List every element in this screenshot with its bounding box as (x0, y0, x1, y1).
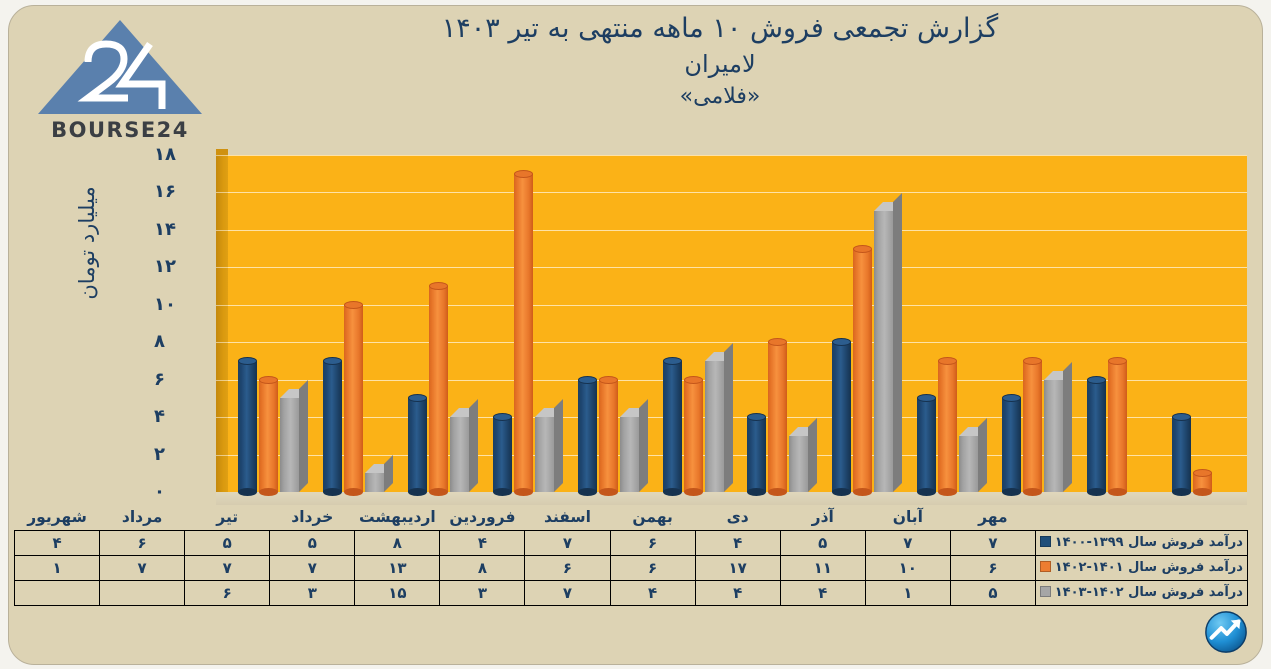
legend-color-swatch (1040, 586, 1051, 597)
month-header-cell: شهریور (15, 505, 100, 530)
bar-top-cap (1108, 357, 1127, 365)
table-row: درآمد فروش سال ۱۴۰۲-۱۴۰۳۵۱۴۴۴۷۳۱۵۳۶ (15, 580, 1248, 605)
bar-cluster (917, 155, 978, 492)
legend-label-text: درآمد فروش سال ۱۴۰۲-۱۴۰۳ (1055, 585, 1243, 600)
bar-navy (1002, 398, 1021, 492)
bar-body (365, 473, 384, 492)
table-cell-value: ۴ (15, 530, 100, 555)
y-axis-tick-labels: ۰۲۴۶۸۱۰۱۲۱۴۱۶۱۸ (150, 144, 220, 504)
bar-cluster (832, 155, 893, 492)
month-header-cell: مهر (950, 505, 1035, 530)
bar-gray (959, 436, 978, 492)
table-corner-cell (1035, 505, 1247, 530)
bar-cluster (1087, 155, 1148, 492)
bar-bottom-cap (514, 488, 533, 496)
bar-side-face (554, 399, 563, 492)
bar-top-cap (684, 376, 703, 384)
bar-side-face (639, 399, 648, 492)
table-cell-value: ۱۷ (695, 555, 780, 580)
table-cell-value: ۱۱ (780, 555, 865, 580)
bar-gray (620, 417, 639, 492)
bar-gray (280, 398, 299, 492)
y-tick-label: ۱۸ (154, 146, 220, 164)
table-cell-value: ۶ (950, 555, 1035, 580)
y-tick-label: ۱۰ (154, 296, 220, 314)
logo-wordmark: BOURSE24 (30, 118, 210, 142)
logo-triangle-icon (30, 14, 210, 120)
bar-body (832, 342, 851, 492)
table-cell-value: ۱۰ (865, 555, 950, 580)
table-cell-empty (15, 580, 100, 605)
bar-navy (493, 417, 512, 492)
bar-orange (344, 305, 363, 492)
table-cell-value: ۷ (950, 530, 1035, 555)
axis-tick-mark (216, 305, 228, 306)
bar-top-cap (429, 282, 448, 290)
axis-tick-mark (216, 230, 228, 231)
table-cell-value: ۵ (780, 530, 865, 555)
table-cell-value: ۸ (355, 530, 440, 555)
bar-side-face (808, 418, 817, 492)
bar-top-cap (493, 413, 512, 421)
bar-body (705, 361, 724, 492)
plot-left-wall (216, 155, 228, 492)
table-cell-value: ۱ (865, 580, 950, 605)
bar-orange (684, 380, 703, 492)
bar-body (663, 361, 682, 492)
month-header-cell: آبان (865, 505, 950, 530)
table-cell-value: ۴ (440, 530, 525, 555)
bar-side-face (384, 455, 393, 492)
chart-title: گزارش تجمعی فروش ۱۰ ماهه منتهی به تیر ۱۴… (210, 10, 1230, 47)
y-tick-label: ۲ (154, 446, 220, 464)
table-cell-value: ۴ (610, 580, 695, 605)
bar-body (938, 361, 957, 492)
legend-row-label: درآمد فروش سال ۱۴۰۱-۱۴۰۲ (1035, 555, 1247, 580)
bar-navy (238, 361, 257, 492)
bar-gray (874, 211, 893, 492)
bourse24-logo: BOURSE24 (30, 14, 210, 140)
month-header-cell: آذر (780, 505, 865, 530)
bar-top-cap (599, 376, 618, 384)
bar-bottom-cap (429, 488, 448, 496)
bar-gray (705, 361, 724, 492)
bar-top-cap (578, 376, 597, 384)
bar-side-face (724, 343, 733, 492)
bar-bottom-cap (493, 488, 512, 496)
bar-body (1023, 361, 1042, 492)
screenshot-root: BOURSE24 گزارش تجمعی فروش ۱۰ ماهه منتهی … (0, 0, 1271, 669)
table-cell-value: ۶ (525, 555, 610, 580)
chart-title-block: گزارش تجمعی فروش ۱۰ ماهه منتهی به تیر ۱۴… (210, 10, 1230, 113)
bar-orange (1108, 361, 1127, 492)
bar-side-face (978, 418, 987, 492)
bar-orange (514, 174, 533, 492)
table-header-row: مهرآبانآذردیبهمناسفندفروردیناردیبهشتخردا… (15, 505, 1248, 530)
bar-bottom-cap (408, 488, 427, 496)
bar-body (1087, 380, 1106, 492)
bar-body (493, 417, 512, 492)
bar-cluster (1002, 155, 1063, 492)
y-tick-label: ۱۲ (154, 258, 220, 276)
table-cell-value: ۴ (695, 580, 780, 605)
bar-body (620, 417, 639, 492)
table-cell-value: ۸ (440, 555, 525, 580)
bar-bottom-cap (1172, 488, 1191, 496)
bar-body (789, 436, 808, 492)
legend-row-label: درآمد فروش سال ۱۳۹۹-۱۴۰۰ (1035, 530, 1247, 555)
bar-body (917, 398, 936, 492)
bar-gray (535, 417, 554, 492)
month-header-cell: خرداد (270, 505, 355, 530)
table-cell-value: ۷ (100, 555, 185, 580)
legend-row-label: درآمد فروش سال ۱۴۰۲-۱۴۰۳ (1035, 580, 1247, 605)
bar-bottom-cap (684, 488, 703, 496)
bar-gray (789, 436, 808, 492)
table-cell-value: ۵ (950, 580, 1035, 605)
table-row: درآمد فروش سال ۱۳۹۹-۱۴۰۰۷۷۵۴۶۷۴۸۵۵۶۴ (15, 530, 1248, 555)
axis-tick-mark (216, 417, 228, 418)
bar-orange (938, 361, 957, 492)
bar-top-cap (1087, 376, 1106, 384)
bar-top-cap (238, 357, 257, 365)
table-cell-value: ۶ (610, 555, 695, 580)
month-header-cell: اسفند (525, 505, 610, 530)
y-tick-label: ۴ (154, 408, 220, 426)
bar-body (238, 361, 257, 492)
bar-cluster (1172, 155, 1233, 492)
bar-side-face (299, 380, 308, 492)
month-header-cell: اردیبهشت (355, 505, 440, 530)
axis-tick-mark (216, 380, 228, 381)
bar-body (599, 380, 618, 492)
bar-navy (1087, 380, 1106, 492)
bar-navy (663, 361, 682, 492)
bar-body (768, 342, 787, 492)
month-header-cell: مرداد (100, 505, 185, 530)
bar-navy (408, 398, 427, 492)
plot-shell (228, 155, 1247, 492)
table-cell-value: ۳ (270, 580, 355, 605)
axis-tick-mark (216, 192, 228, 193)
bar-body (259, 380, 278, 492)
bar-body (1172, 417, 1191, 492)
table-cell-value: ۱۳ (355, 555, 440, 580)
bar-top-cap (663, 357, 682, 365)
y-tick-label: ۱۴ (154, 221, 220, 239)
axis-tick-mark (216, 342, 228, 343)
legend-label-text: درآمد فروش سال ۱۳۹۹-۱۴۰۰ (1055, 535, 1243, 550)
bar-side-face (893, 193, 902, 492)
bar-body (1044, 380, 1063, 492)
bar-body (684, 380, 703, 492)
trend-arrow-badge-icon[interactable] (1203, 609, 1249, 655)
bar-cluster (493, 155, 554, 492)
chart-subtitle: لامیران (210, 47, 1230, 81)
table-cell-value: ۷ (865, 530, 950, 555)
bar-orange (853, 249, 872, 492)
bar-body (514, 174, 533, 492)
bar-navy (323, 361, 342, 492)
bar-top-cap (853, 245, 872, 253)
data-table: مهرآبانآذردیبهمناسفندفروردیناردیبهشتخردا… (14, 505, 1248, 606)
table-cell-value: ۷ (185, 555, 270, 580)
bar-orange (599, 380, 618, 492)
table-cell-value: ۶ (610, 530, 695, 555)
table-cell-value: ۵ (185, 530, 270, 555)
table-cell-value: ۵ (270, 530, 355, 555)
bar-bottom-cap (344, 488, 363, 496)
bar-body (874, 211, 893, 492)
bar-navy (578, 380, 597, 492)
table-cell-value: ۶ (100, 530, 185, 555)
bar-bottom-cap (323, 488, 342, 496)
bar-top-cap (344, 301, 363, 309)
month-header-cell: بهمن (610, 505, 695, 530)
bar-cluster (408, 155, 469, 492)
bar-cluster (238, 155, 299, 492)
table-cell-value: ۴ (695, 530, 780, 555)
bar-gray (1044, 380, 1063, 492)
month-header-cell: دی (695, 505, 780, 530)
chart-symbol: «فلامی» (210, 81, 1230, 113)
bar-bottom-cap (259, 488, 278, 496)
bar-body (429, 286, 448, 492)
table-cell-value: ۱ (15, 555, 100, 580)
legend-color-swatch (1040, 561, 1051, 572)
bar-body (344, 305, 363, 492)
bar-side-face (1063, 362, 1072, 492)
bar-cluster (747, 155, 808, 492)
bar-top-cap (323, 357, 342, 365)
bar-body (323, 361, 342, 492)
bar-cluster (663, 155, 724, 492)
bar-gray (450, 417, 469, 492)
month-header-cell: فروردین (440, 505, 525, 530)
bar-top-cap (1023, 357, 1042, 365)
bar-body (280, 398, 299, 492)
bar-orange (1023, 361, 1042, 492)
bar-body (959, 436, 978, 492)
table-cell-value: ۷ (270, 555, 355, 580)
bar-bottom-cap (578, 488, 597, 496)
bar-body (853, 249, 872, 492)
table-row: درآمد فروش سال ۱۴۰۱-۱۴۰۲۶۱۰۱۱۱۷۶۶۸۱۳۷۷۷۱ (15, 555, 1248, 580)
bar-body (450, 417, 469, 492)
bar-side-face (469, 399, 478, 492)
bar-bottom-cap (663, 488, 682, 496)
y-tick-label: ۱۶ (154, 183, 220, 201)
bar-bottom-cap (1087, 488, 1106, 496)
month-header-cell: تیر (185, 505, 270, 530)
bar-body (1108, 361, 1127, 492)
y-axis-title: میلیارد تومان (75, 143, 111, 343)
axis-tick-mark (216, 155, 228, 156)
legend-label-text: درآمد فروش سال ۱۴۰۱-۱۴۰۲ (1055, 560, 1243, 575)
legend-color-swatch (1040, 536, 1051, 547)
bar-top-cap (259, 376, 278, 384)
table-cell-value: ۳ (440, 580, 525, 605)
bar-navy (1172, 417, 1191, 492)
bar-bottom-cap (1108, 488, 1127, 496)
table-cell-value: ۴ (780, 580, 865, 605)
bar-bottom-cap (238, 488, 257, 496)
bar-bottom-cap (1193, 488, 1212, 496)
axis-tick-mark (216, 455, 228, 456)
table-cell-value: ۷ (525, 580, 610, 605)
bar-orange (768, 342, 787, 492)
y-tick-label: ۶ (154, 371, 220, 389)
bar-navy (832, 342, 851, 492)
axis-tick-mark (216, 267, 228, 268)
bar-body (578, 380, 597, 492)
bar-top-cap (514, 170, 533, 178)
bar-cluster (578, 155, 639, 492)
bar-body (535, 417, 554, 492)
bar-navy (747, 417, 766, 492)
table-cell-value: ۷ (525, 530, 610, 555)
bar-bottom-cap (599, 488, 618, 496)
bar-cluster (323, 155, 384, 492)
table-cell-value: ۶ (185, 580, 270, 605)
bar-orange (429, 286, 448, 492)
bar-gray (365, 473, 384, 492)
bar-orange (259, 380, 278, 492)
table-cell-empty (100, 580, 185, 605)
bar-navy (917, 398, 936, 492)
y-tick-label: ۸ (154, 333, 220, 351)
bar-body (408, 398, 427, 492)
y-tick-label: ۰ (154, 483, 220, 501)
bar-body (1002, 398, 1021, 492)
plot-area (228, 155, 1247, 492)
bar-body (747, 417, 766, 492)
table-cell-value: ۱۵ (355, 580, 440, 605)
bar-orange (1193, 473, 1212, 492)
